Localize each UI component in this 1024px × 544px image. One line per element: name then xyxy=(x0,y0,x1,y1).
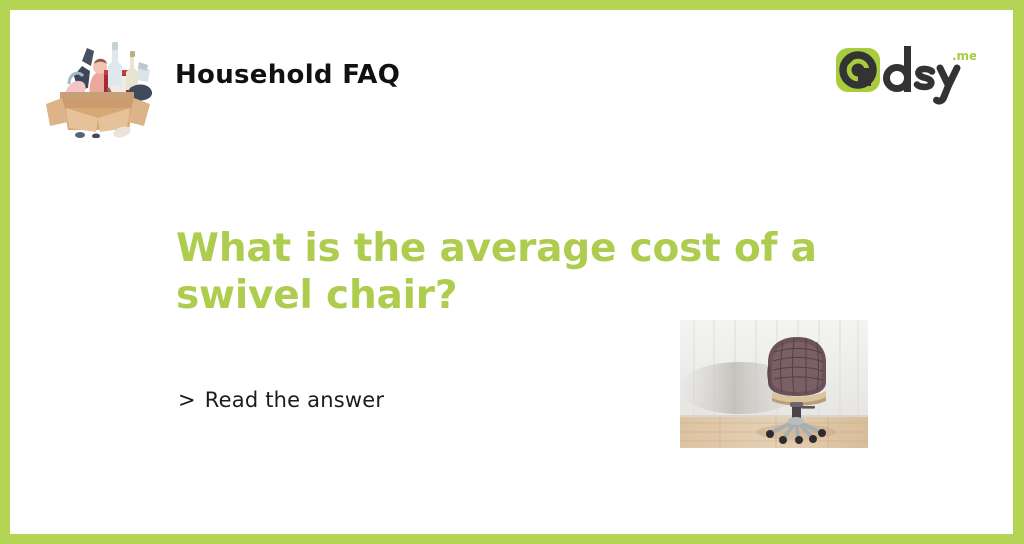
page-canvas: Household FAQ xyxy=(10,10,1013,534)
chevron-right-icon: > xyxy=(178,388,196,412)
main-content: What is the average cost of a swivel cha… xyxy=(10,130,1013,534)
adsy-logo[interactable]: .me xyxy=(836,38,976,108)
page-title: Household FAQ xyxy=(175,60,400,90)
read-the-answer-link[interactable]: >Read the answer xyxy=(178,388,384,412)
page-header: Household FAQ xyxy=(10,10,1013,130)
question-headline: What is the average cost of a swivel cha… xyxy=(176,225,876,319)
read-the-answer-label: Read the answer xyxy=(205,388,384,412)
swivel-chair-photo xyxy=(680,320,868,448)
page-green-frame: Household FAQ xyxy=(0,0,1024,544)
logo-suffix-text: .me xyxy=(952,49,976,63)
cardboard-box-of-household-items-icon xyxy=(38,26,156,138)
